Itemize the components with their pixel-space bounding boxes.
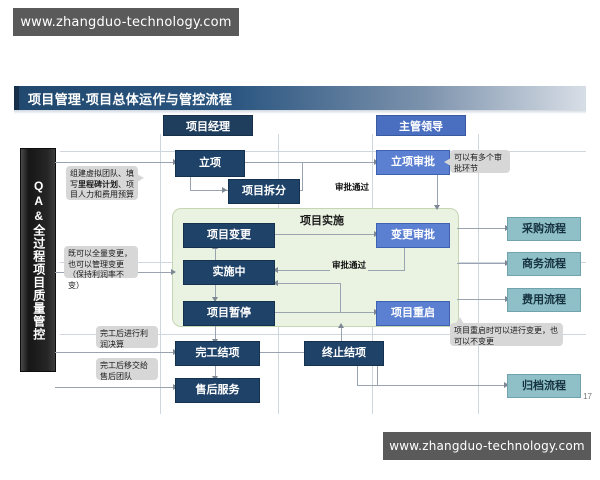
node-change[interactable]: 项目变更	[183, 223, 275, 248]
callout-change-policy: 既可以全量变更，也可以管理变更（保持利润率不变）	[64, 246, 138, 278]
callout-restart-change-text: 项目重启时可以进行变更，也可以不变更	[454, 326, 558, 346]
connector-restart-up	[340, 283, 341, 313]
node-suspend[interactable]: 项目暂停	[183, 301, 275, 326]
node-restart[interactable]: 项目重启	[376, 301, 450, 326]
edge-label-approval-passed-1: 审批通过	[333, 181, 371, 193]
node-complete-close[interactable]: 完工结项	[175, 341, 260, 366]
group-implementation-label: 项目实施	[282, 212, 362, 226]
lane-header-qa: QA&全过程项目质量管控	[20, 148, 56, 372]
connector-impl-purchase	[457, 228, 507, 229]
connector-terminate-archive	[377, 364, 378, 385]
connector-suspend-restart	[273, 312, 376, 313]
node-initiation-approval[interactable]: 立项审批	[376, 150, 450, 175]
node-archive-flow[interactable]: 归档流程	[507, 374, 581, 398]
node-in-progress[interactable]: 实施中	[183, 260, 275, 285]
connector-change-approval	[273, 234, 376, 235]
edge-label-approval-passed-2: 审批通过	[330, 259, 368, 271]
connector-initiation-approval	[243, 162, 376, 163]
page-number: 17	[583, 392, 592, 401]
node-initiation[interactable]: 立项	[175, 150, 245, 177]
callout-tail-left-icon	[444, 158, 451, 166]
callout-multi-approval-text: 可以有多个审批环节	[454, 153, 502, 173]
connector-approval-down	[302, 162, 303, 190]
callout-team-plan-emphasis: 里程碑计划	[78, 180, 118, 189]
callout-tail-icon	[137, 174, 144, 182]
node-expense-flow[interactable]: 费用流程	[507, 288, 581, 312]
arrow-terminate-up	[338, 323, 344, 328]
connector-qa-complete	[55, 352, 175, 353]
connector-qa-aftersales	[55, 387, 175, 388]
arrow-split-impl	[434, 205, 440, 210]
callout-tail-topleft-icon	[456, 317, 464, 324]
lane-header-qa-label: QA&全过程项目质量管控	[31, 179, 44, 341]
title-accent-bar	[14, 86, 19, 110]
callout-profit-settlement: 完工后进行利润决算	[96, 326, 158, 348]
connector-complete-archive-h2	[357, 385, 506, 386]
connector-restart-h	[277, 283, 341, 284]
connector-initiation-down	[190, 175, 191, 190]
node-after-sales[interactable]: 售后服务	[175, 378, 260, 403]
callout-team-plan: 组建虚拟团队、填写里程碑计划、项目人力和费用预算	[66, 166, 138, 200]
node-terminate-close[interactable]: 终止结项	[304, 341, 384, 366]
page-title: 项目管理·项目总体运作与管控流程	[28, 86, 232, 110]
slide-title-bar: 项目管理·项目总体运作与管控流程	[14, 86, 586, 110]
title-shadow	[14, 110, 586, 114]
connector-impl-expense	[457, 299, 507, 300]
callout-team-plan-line3: 力和费用预算	[86, 190, 134, 199]
slide-canvas: www.zhangduo-technology.com www.zhangduo…	[0, 0, 600, 480]
lane-header-supervisor: 主管领导	[376, 115, 466, 136]
connector-changeapp-down	[404, 246, 405, 270]
arrow-qa-inprogress	[171, 269, 176, 275]
arrow-to-split	[222, 187, 227, 193]
lane-header-project-manager: 项目经理	[163, 115, 253, 136]
node-split[interactable]: 项目拆分	[228, 179, 300, 204]
node-business-flow[interactable]: 商务流程	[507, 252, 581, 276]
connector-qa-initiation	[55, 162, 175, 163]
watermark-top: www.zhangduo-technology.com	[13, 8, 239, 36]
callout-multi-approval: 可以有多个审批环节	[450, 150, 510, 173]
callout-handover: 完工后移交给售后团队	[96, 358, 158, 380]
lane-guide-v1	[160, 134, 161, 414]
node-change-approval[interactable]: 变更审批	[376, 223, 450, 248]
node-purchase-flow[interactable]: 采购流程	[507, 217, 581, 241]
callout-restart-change: 项目重启时可以进行变更，也可以不变更	[450, 323, 563, 346]
lane-guide-v4	[478, 134, 479, 414]
connector-impl-business	[457, 263, 507, 264]
watermark-bottom: www.zhangduo-technology.com	[383, 432, 591, 460]
